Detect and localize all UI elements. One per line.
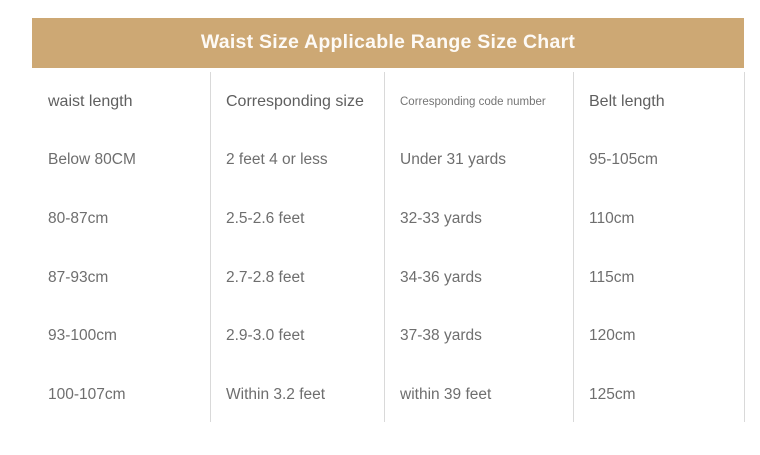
cell-corresponding-size: 2.7-2.8 feet — [210, 269, 384, 286]
cell-corresponding-size: 2.5-2.6 feet — [210, 210, 384, 227]
size-chart-table: waist length Corresponding size Correspo… — [32, 72, 745, 422]
cell-waist-length: Below 80CM — [32, 151, 210, 168]
column-header-belt-length: Belt length — [573, 93, 745, 111]
table-header-row: waist length Corresponding size Correspo… — [32, 72, 745, 131]
cell-belt-length: 120cm — [573, 327, 745, 344]
size-chart-graphic: Waist Size Applicable Range Size Chart w… — [0, 0, 760, 455]
cell-belt-length: 110cm — [573, 210, 745, 227]
table-row: 87-93cm 2.7-2.8 feet 34-36 yards 115cm — [32, 248, 745, 307]
table-row: 93-100cm 2.9-3.0 feet 37-38 yards 120cm — [32, 306, 745, 365]
column-header-corresponding-size: Corresponding size — [210, 93, 384, 111]
cell-waist-length: 100-107cm — [32, 386, 210, 403]
cell-corresponding-code-number: 32-33 yards — [384, 210, 573, 227]
table-row: 80-87cm 2.5-2.6 feet 32-33 yards 110cm — [32, 189, 745, 248]
chart-title-bar: Waist Size Applicable Range Size Chart — [32, 18, 744, 68]
cell-corresponding-size: 2.9-3.0 feet — [210, 327, 384, 344]
cell-belt-length: 125cm — [573, 386, 745, 403]
cell-corresponding-code-number: within 39 feet — [384, 386, 573, 403]
cell-waist-length: 87-93cm — [32, 269, 210, 286]
column-header-corresponding-code-number: Corresponding code number — [384, 94, 573, 109]
cell-corresponding-code-number: Under 31 yards — [384, 151, 573, 168]
page-title: Waist Size Applicable Range Size Chart — [201, 33, 575, 53]
cell-waist-length: 80-87cm — [32, 210, 210, 227]
cell-waist-length: 93-100cm — [32, 327, 210, 344]
table-row: Below 80CM 2 feet 4 or less Under 31 yar… — [32, 131, 745, 190]
cell-corresponding-size: 2 feet 4 or less — [210, 151, 384, 168]
column-header-waist-length: waist length — [32, 93, 210, 111]
cell-corresponding-code-number: 34-36 yards — [384, 269, 573, 286]
cell-corresponding-size: Within 3.2 feet — [210, 386, 384, 403]
cell-corresponding-code-number: 37-38 yards — [384, 327, 573, 344]
table-body: waist length Corresponding size Correspo… — [32, 72, 745, 422]
table-row: 100-107cm Within 3.2 feet within 39 feet… — [32, 365, 745, 424]
cell-belt-length: 95-105cm — [573, 151, 745, 168]
cell-belt-length: 115cm — [573, 269, 745, 286]
